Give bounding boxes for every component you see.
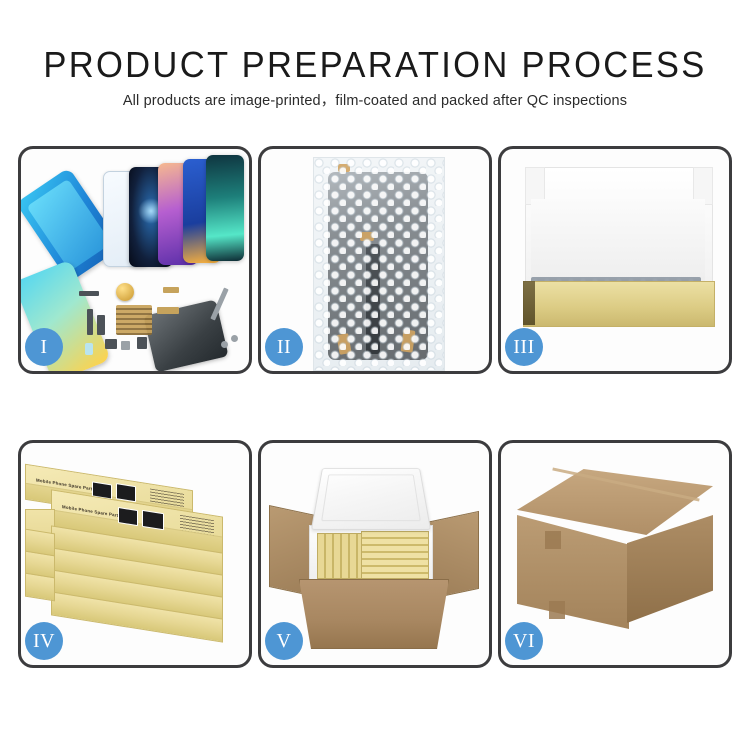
bubble-texture [314, 158, 444, 370]
carton-tape-patch [545, 531, 561, 549]
product-preparation-infographic: PRODUCT PREPARATION PROCESS All products… [0, 0, 750, 750]
part-icon [87, 309, 93, 335]
step-badge-4: IV [25, 622, 63, 660]
chip-grid-icon [116, 305, 152, 335]
part-icon [105, 339, 117, 349]
page-subtitle: All products are image-printed，film-coat… [0, 89, 750, 110]
process-step-2: II [258, 146, 492, 374]
yellow-box-tray [523, 281, 715, 327]
speaker-component-icon [116, 283, 134, 301]
tray-side-shadow [523, 281, 535, 325]
carton-front-face [517, 515, 629, 629]
process-step-4: Mobile Phone Spare Parts Mobile Phone Sp… [18, 440, 252, 668]
step-badge-2: II [265, 328, 303, 366]
step-badge-1: I [25, 328, 63, 366]
part-icon [97, 315, 105, 335]
part-icon [79, 291, 99, 296]
phone-thumbnail [142, 510, 164, 530]
part-icon [221, 341, 228, 348]
page-title: PRODUCT PREPARATION PROCESS [15, 44, 735, 86]
teal-phone-icon [206, 155, 244, 261]
bubble-wrap-bag [313, 157, 445, 371]
box-layer-left [25, 573, 55, 602]
yellow-boxes-bundle [361, 531, 429, 579]
white-foam-sheet [531, 199, 705, 281]
process-step-1: I [18, 146, 252, 374]
part-icon [121, 341, 130, 350]
step-badge-6: VI [505, 622, 543, 660]
process-step-5: V [258, 440, 492, 668]
process-step-6: VI [498, 440, 732, 668]
carton-tape-patch [549, 601, 565, 619]
step-badge-5: V [265, 622, 303, 660]
part-icon [157, 307, 179, 314]
part-icon [137, 337, 147, 349]
step-badge-3: III [505, 328, 543, 366]
carton-body [299, 579, 449, 649]
part-icon [163, 287, 179, 293]
part-icon [85, 343, 93, 355]
process-steps-grid: I II [18, 146, 732, 726]
part-icon [231, 335, 238, 342]
foam-cooler-lid [311, 468, 431, 530]
process-step-3: III [498, 146, 732, 374]
phone-thumbnail [118, 507, 138, 526]
